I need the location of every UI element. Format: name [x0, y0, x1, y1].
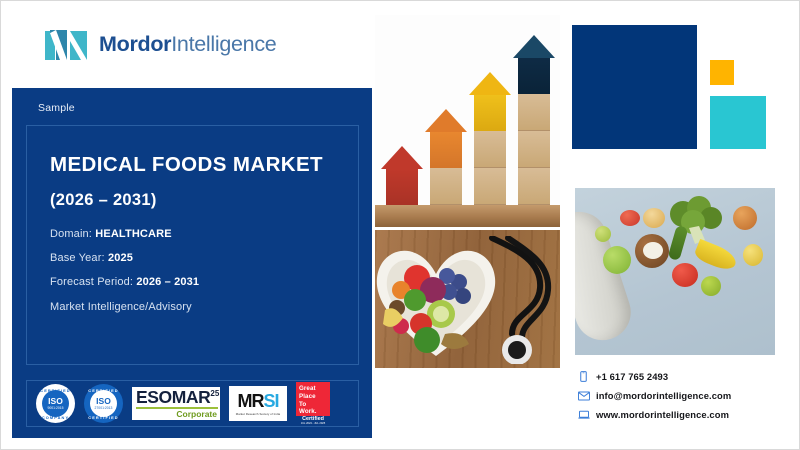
- block-wood-yellow-2: [474, 168, 506, 205]
- contact-row-website[interactable]: www.mordorintelligence.com: [578, 406, 793, 423]
- brand-wordmark: MordorIntelligence: [99, 32, 276, 57]
- meta-note: Market Intelligence/Advisory: [50, 301, 358, 313]
- block-column-yellow: [469, 72, 511, 205]
- mrs-text-cyan: SI: [263, 391, 278, 411]
- meta-label-domain: Domain:: [50, 228, 92, 240]
- meta-value-domain: HEALTHCARE: [95, 228, 171, 240]
- mordor-m-logo-icon: [44, 27, 88, 61]
- iso-seal-number: 9001:2015: [47, 406, 63, 410]
- fruit-icon: [743, 244, 763, 266]
- lime-slice-icon: [595, 226, 611, 242]
- report-title-card: MEDICAL FOODS MARKET (2026 – 2031) Domai…: [26, 125, 359, 365]
- great-place-to-work-badge: Great Place To Work. Certified JUL 2024 …: [296, 382, 330, 425]
- esomar-text: ESOMAR: [136, 387, 210, 407]
- block-body-yellow: [474, 95, 506, 131]
- report-meta-list: Domain: HEALTHCARE Base Year: 2025 Forec…: [50, 229, 358, 313]
- contact-email: info@mordorintelligence.com: [596, 390, 731, 401]
- mrs-badge: MRSI Market Research Society of India: [229, 386, 287, 421]
- small-tomato-icon: [620, 210, 640, 226]
- onion-half-icon: [643, 208, 665, 228]
- report-cover-page: MordorIntelligence Sample MEDICAL FOODS …: [0, 0, 800, 450]
- block-column-orange: [425, 109, 467, 205]
- iso-seal-text: ISO: [48, 397, 63, 406]
- green-apple-icon: [603, 246, 631, 274]
- block-roof-orange: [425, 109, 467, 132]
- bread-roll-icon: [733, 206, 757, 230]
- iso2-seal-core: ISO 27001:2013: [90, 390, 117, 417]
- laptop-icon: [578, 410, 596, 420]
- contact-website: www.mordorintelligence.com: [596, 409, 729, 420]
- iso-seal-core: ISO 9001:2015: [42, 390, 69, 417]
- certification-badge-strip: CERTIFIED ISO 9001:2015 COMPANY CERTIFIE…: [26, 380, 359, 427]
- phone-icon: [578, 371, 596, 382]
- block-wood-yellow-1: [474, 131, 506, 168]
- iso2-seal-arc-top: CERTIFIED: [84, 388, 123, 393]
- block-roof-red: [381, 146, 423, 169]
- iso2-seal-number: 27001:2013: [95, 406, 113, 410]
- contact-phone: +1 617 765 2493: [596, 371, 668, 382]
- meta-row-forecast-period: Forecast Period: 2026 – 2031: [50, 277, 358, 288]
- block-wood-orange-1: [430, 168, 462, 205]
- contact-row-phone[interactable]: +1 617 765 2493: [578, 368, 793, 385]
- meta-label-base-year: Base Year:: [50, 252, 105, 264]
- capsule-produce-photo: [575, 188, 775, 355]
- envelope-icon: [578, 391, 596, 401]
- stethoscope-icon: [478, 236, 554, 364]
- deco-cyan-square: [710, 96, 766, 149]
- meta-row-base-year: Base Year: 2025: [50, 253, 358, 264]
- gptw-line-3: To: [299, 401, 330, 409]
- esomar-corporate-badge: ESOMAR25 Corporate: [132, 387, 220, 420]
- tomato-icon: [672, 263, 698, 287]
- block-roof-navy: [513, 35, 555, 58]
- brand-name-light: Intelligence: [171, 32, 276, 56]
- meta-row-domain: Domain: HEALTHCARE: [50, 229, 358, 240]
- gptw-certified-period: JUL 2024 - JUL 2025: [296, 423, 330, 426]
- gptw-line-4: Work.: [299, 408, 330, 416]
- report-info-panel: Sample MEDICAL FOODS MARKET (2026 – 2031…: [12, 88, 372, 438]
- gptw-line-1: Great: [299, 385, 330, 393]
- mrs-subtitle: Market Research Society of India: [236, 412, 280, 416]
- heart-bowl-food-photo: [375, 230, 560, 368]
- iso2-seal-text: ISO: [96, 397, 111, 406]
- brand-header: MordorIntelligence: [0, 0, 372, 88]
- meta-value-base-year: 2025: [108, 252, 133, 264]
- iso-seal-arc-bottom: COMPANY: [36, 415, 75, 420]
- contact-block: +1 617 765 2493 info@mordorintelligence.…: [578, 368, 793, 425]
- esomar-superscript: 25: [210, 389, 219, 398]
- contact-row-email[interactable]: info@mordorintelligence.com: [578, 387, 793, 404]
- block-wood-navy-3: [518, 168, 550, 205]
- mrs-wordmark: MRSI: [237, 392, 278, 410]
- gptw-lines: Great Place To Work.: [296, 382, 330, 416]
- block-body-orange: [430, 132, 462, 168]
- gptw-line-2: Place: [299, 393, 330, 401]
- mrs-text-dark: MR: [237, 391, 263, 411]
- block-column-navy: [513, 35, 555, 205]
- esomar-wordmark: ESOMAR25: [136, 389, 220, 407]
- iso-certified-seal: CERTIFIED ISO 27001:2013 CERTIFIED: [84, 384, 123, 423]
- esomar-corporate-text: Corporate: [136, 410, 220, 419]
- block-wood-navy-1: [518, 94, 550, 131]
- deco-amber-square: [710, 60, 734, 85]
- iso-seal-arc-top: CERTIFIED: [36, 388, 75, 393]
- block-column-red: [381, 146, 423, 205]
- block-roof-yellow: [469, 72, 511, 95]
- meta-value-forecast-period: 2026 – 2031: [136, 276, 199, 288]
- sample-label: Sample: [38, 102, 75, 114]
- coconut-flesh-icon: [643, 242, 663, 259]
- blocks-shelf: [375, 205, 560, 227]
- iso-certified-company-seal: CERTIFIED ISO 9001:2015 COMPANY: [36, 384, 75, 423]
- page-title: MEDICAL FOODS MARKET: [50, 154, 358, 177]
- block-wood-navy-2: [518, 131, 550, 168]
- block-body-red: [386, 169, 418, 205]
- growth-blocks-photo: [375, 15, 560, 227]
- forecast-years: (2026 – 2031): [50, 191, 358, 210]
- block-body-navy: [518, 58, 550, 94]
- meta-label-forecast-period: Forecast Period:: [50, 276, 133, 288]
- iso2-seal-arc-bottom: CERTIFIED: [84, 415, 123, 420]
- brand-name-bold: Mordor: [99, 32, 171, 56]
- lime-icon: [701, 276, 721, 296]
- deco-navy-square: [572, 25, 697, 149]
- gptw-certified: Certified JUL 2024 - JUL 2025: [296, 416, 330, 426]
